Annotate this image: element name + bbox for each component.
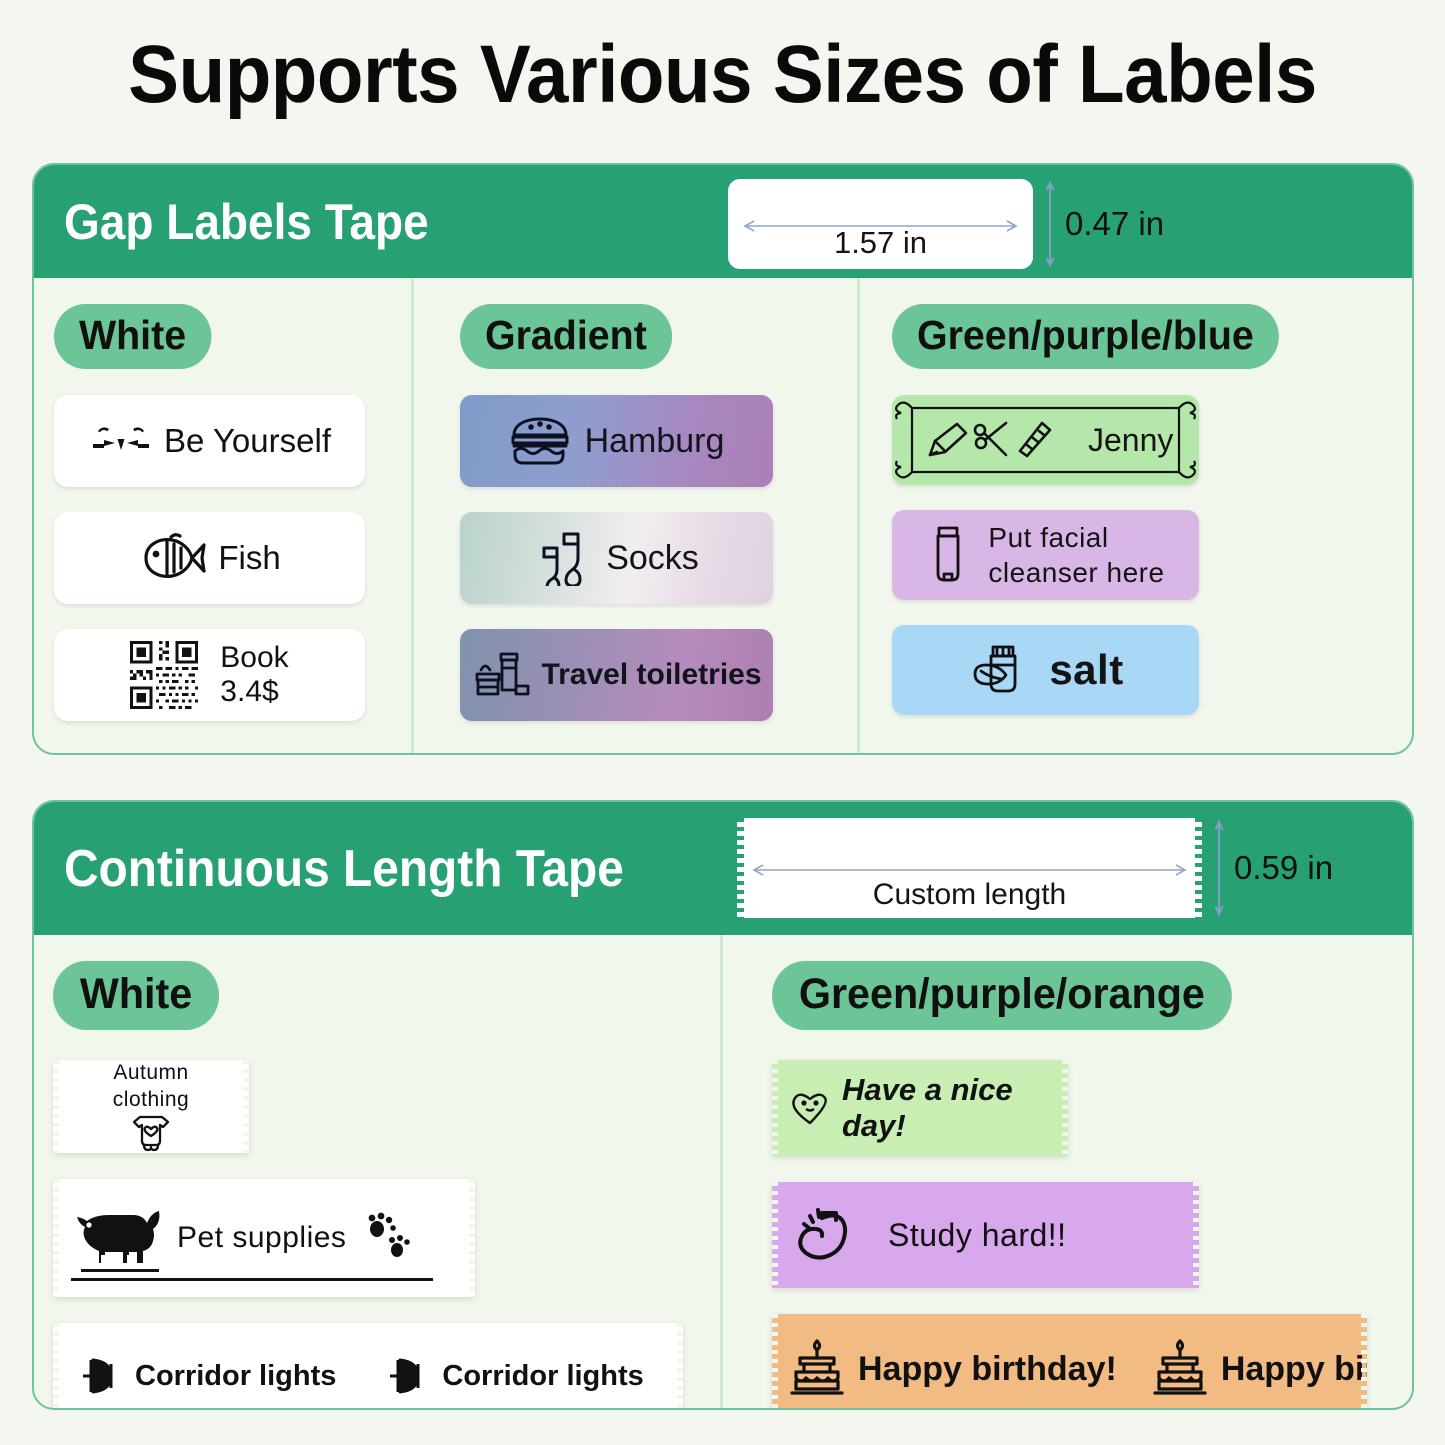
wall-light-icon xyxy=(79,1352,121,1400)
card-continuous-body: White Autumn clothing xyxy=(34,935,1412,1408)
toiletries-icon xyxy=(471,648,533,702)
tape-autumn-clothing[interactable]: Autumn clothing xyxy=(53,1060,249,1153)
heart-smile-icon xyxy=(788,1088,832,1128)
label-text: Hamburg xyxy=(585,422,725,461)
poster-root: Supports Various Sizes of Labels Gap Lab… xyxy=(0,0,1445,1445)
onesie-icon xyxy=(128,1113,174,1153)
height-arrow-icon xyxy=(1214,818,1224,918)
pill-green-purple-blue[interactable]: Green/purple/blue xyxy=(892,304,1279,369)
gap-color-samples: Jenny xyxy=(892,395,1410,715)
birthday-cake-icon xyxy=(786,1337,848,1401)
salt-shaker-icon xyxy=(967,641,1031,699)
label-be-yourself[interactable]: Be Yourself xyxy=(54,395,365,487)
card-continuous-title: Continuous Length Tape xyxy=(64,839,624,899)
tape-corridor-lights[interactable]: Corridor lights Corrid xyxy=(53,1323,683,1410)
height-arrow-icon xyxy=(1045,179,1055,269)
label-salt[interactable]: salt xyxy=(892,625,1199,715)
fish-icon xyxy=(138,531,208,585)
label-text-2: Happy birth xyxy=(1221,1350,1367,1389)
tape-study-hard[interactable]: Study hard!! xyxy=(772,1182,1199,1288)
label-text: Fish xyxy=(218,539,280,577)
continuous-white-samples: Autumn clothing xyxy=(53,1060,720,1410)
book-text-group: Book 3.4$ xyxy=(220,641,288,710)
gap-white-samples: Be Yourself xyxy=(54,395,411,721)
gap-column-colors: Green/purple/blue xyxy=(857,278,1410,753)
card-gap-title: Gap Labels Tape xyxy=(64,193,429,251)
pill-green-purple-orange[interactable]: Green/purple/orange xyxy=(772,961,1232,1030)
pill-white-gap[interactable]: White xyxy=(54,304,211,369)
wall-light-icon-2 xyxy=(386,1352,428,1400)
label-text-2: cleanser here xyxy=(988,555,1164,590)
label-facial-cleanser[interactable]: Put facial cleanser here xyxy=(892,510,1199,600)
label-text: Jenny xyxy=(1088,422,1173,459)
cat-face-icon xyxy=(88,421,154,461)
gap-dimension-widget: 1.57 in 0.47 in xyxy=(728,179,1164,269)
label-hamburg[interactable]: Hamburg xyxy=(460,395,773,487)
label-text-2: clothing xyxy=(113,1087,189,1113)
tape-pet-supplies[interactable]: Pet supplies xyxy=(53,1179,475,1297)
label-text: Corridor lights xyxy=(135,1360,336,1393)
birthday-cake-icon-2 xyxy=(1149,1337,1211,1401)
continuous-column-white: White Autumn clothing xyxy=(34,935,720,1408)
label-text: Book xyxy=(220,641,288,676)
label-text: Happy birthday! xyxy=(858,1350,1117,1389)
label-text: salt xyxy=(1049,646,1123,694)
bicep-icon xyxy=(796,1204,866,1266)
gap-tape-swatch: 1.57 in xyxy=(728,179,1033,269)
gap-column-white: White xyxy=(34,278,411,753)
continuous-tape-swatch: Custom length xyxy=(737,818,1202,918)
label-jenny[interactable]: Jenny xyxy=(892,395,1199,485)
pill-white-continuous[interactable]: White xyxy=(53,961,219,1030)
page-title: Supports Various Sizes of Labels xyxy=(51,28,1395,122)
paw-prints-icon xyxy=(360,1212,414,1264)
label-fish[interactable]: Fish xyxy=(54,512,365,604)
cleanser-tube-icon xyxy=(926,524,970,586)
label-travel-toiletries[interactable]: Travel toiletries xyxy=(460,629,773,721)
label-text: Autumn xyxy=(113,1060,188,1086)
card-gap-body: White xyxy=(34,278,1412,753)
tape-have-a-nice-day[interactable]: Have a nice day! xyxy=(772,1060,1068,1156)
cleanser-text-group: Put facial cleanser here xyxy=(988,520,1164,590)
label-socks[interactable]: Socks xyxy=(460,512,773,604)
continuous-color-samples: Have a nice day! S xyxy=(772,1060,1410,1410)
label-text: Travel toiletries xyxy=(541,658,761,692)
gap-width-label: 1.57 in xyxy=(834,225,927,261)
continuous-height-label: 0.59 in xyxy=(1234,849,1333,887)
tape-happy-birthday[interactable]: Happy birthday! xyxy=(772,1314,1367,1410)
label-text: Be Yourself xyxy=(164,422,331,460)
underline-rule xyxy=(71,1278,433,1281)
label-text: Socks xyxy=(606,539,699,578)
label-text: Study hard!! xyxy=(888,1217,1067,1254)
dog-icon xyxy=(71,1199,163,1277)
continuous-width-label: Custom length xyxy=(873,878,1066,912)
card-gap-header: Gap Labels Tape 1.57 in xyxy=(34,165,1412,278)
socks-icon xyxy=(534,530,592,586)
continuous-column-colors: Green/purple/orange xyxy=(720,935,1410,1408)
label-text: Pet supplies xyxy=(177,1221,346,1255)
gap-column-gradient: Gradient xyxy=(411,278,857,753)
hamburger-icon xyxy=(509,415,571,467)
continuous-dimension-widget: Custom length 0.59 in xyxy=(737,818,1333,918)
card-gap-labels-tape: Gap Labels Tape 1.57 in xyxy=(32,163,1414,755)
label-text-2: 3.4$ xyxy=(220,675,288,710)
label-text: Have a nice day! xyxy=(842,1072,1068,1144)
card-continuous-header: Continuous Length Tape Custom length xyxy=(34,802,1412,935)
gap-height-label: 0.47 in xyxy=(1065,205,1164,243)
qr-code-icon xyxy=(130,641,198,709)
width-arrow-icon xyxy=(749,864,1190,876)
stationery-icon xyxy=(924,419,1056,461)
label-book-qr[interactable]: Book 3.4$ xyxy=(54,629,365,721)
label-text-2: Corridor lights xyxy=(442,1360,643,1393)
card-continuous-length-tape: Continuous Length Tape Custom length xyxy=(32,800,1414,1410)
gap-gradient-samples: Hamburg xyxy=(460,395,857,721)
pill-gradient[interactable]: Gradient xyxy=(460,304,672,369)
label-text: Put facial xyxy=(988,520,1164,555)
